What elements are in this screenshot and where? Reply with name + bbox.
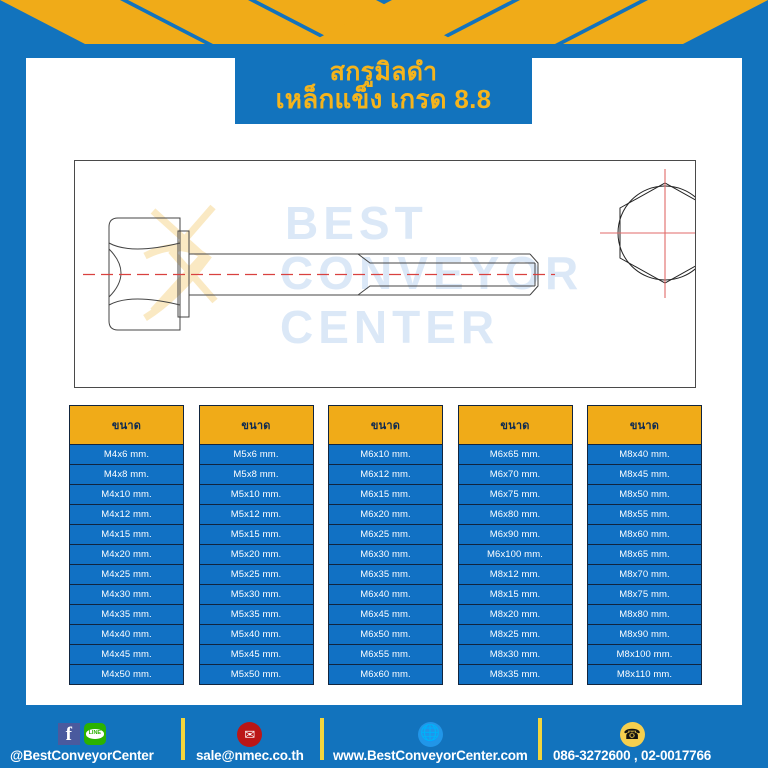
table-row[interactable]: M4x6 mm. [69, 445, 184, 465]
line-icon[interactable]: LINE [84, 723, 106, 745]
envelope-icon[interactable]: ✉ [237, 722, 262, 747]
page-title-banner: สกรูมิลดำ เหล็กแข็ง เกรด 8.8 [235, 49, 532, 124]
table-row[interactable]: M4x20 mm. [69, 545, 184, 565]
table-row[interactable]: M6x80 mm. [458, 505, 573, 525]
table-row[interactable]: M5x25 mm. [199, 565, 314, 585]
table-header-3: ขนาด [328, 405, 443, 445]
size-table-column-1: ขนาด M4x6 mm. M4x8 mm. M4x10 mm. M4x12 m… [69, 405, 184, 693]
footer-social-text[interactable]: @BestConveyorCenter [10, 748, 154, 763]
footer-phone-text[interactable]: 086-3272600 , 02-0017766 [553, 748, 711, 763]
footer-divider-2 [320, 718, 324, 760]
table-row[interactable]: M5x15 mm. [199, 525, 314, 545]
table-header-4: ขนาด [458, 405, 573, 445]
footer-phone-group[interactable]: ☎ 086-3272600 , 02-0017766 [553, 722, 711, 763]
footer-email-text[interactable]: sale@nmec.co.th [196, 748, 304, 763]
table-row[interactable]: M6x55 mm. [328, 645, 443, 665]
table-header-2: ขนาด [199, 405, 314, 445]
footer-email-group[interactable]: ✉ sale@nmec.co.th [196, 722, 304, 763]
table-row[interactable]: M5x6 mm. [199, 445, 314, 465]
table-row[interactable]: M4x35 mm. [69, 605, 184, 625]
table-row[interactable]: M6x12 mm. [328, 465, 443, 485]
table-row[interactable]: M4x25 mm. [69, 565, 184, 585]
table-row[interactable]: M8x35 mm. [458, 665, 573, 685]
table-row[interactable]: M6x50 mm. [328, 625, 443, 645]
table-row[interactable]: M4x40 mm. [69, 625, 184, 645]
footer-website-text[interactable]: www.BestConveyorCenter.com [333, 748, 528, 763]
table-row[interactable]: M5x30 mm. [199, 585, 314, 605]
table-row[interactable]: M8x15 mm. [458, 585, 573, 605]
footer-divider-1 [181, 718, 185, 760]
page-title-line-2: เหล็กแข็ง เกรด 8.8 [276, 86, 492, 114]
table-row[interactable]: M5x10 mm. [199, 485, 314, 505]
table-row[interactable]: M6x15 mm. [328, 485, 443, 505]
table-row[interactable]: M6x70 mm. [458, 465, 573, 485]
table-row[interactable]: M8x30 mm. [458, 645, 573, 665]
content-card: สกรูมิลดำ เหล็กแข็ง เกรด 8.8 BEST CONVEY… [26, 32, 742, 705]
table-row[interactable]: M8x60 mm. [587, 525, 702, 545]
table-row[interactable]: M4x12 mm. [69, 505, 184, 525]
table-row[interactable]: M6x65 mm. [458, 445, 573, 465]
table-row[interactable]: M6x20 mm. [328, 505, 443, 525]
facebook-icon[interactable]: f [58, 723, 80, 745]
table-row[interactable]: M6x40 mm. [328, 585, 443, 605]
table-row[interactable]: M6x90 mm. [458, 525, 573, 545]
table-row[interactable]: M8x90 mm. [587, 625, 702, 645]
table-row[interactable]: M6x100 mm. [458, 545, 573, 565]
size-table-column-5: ขนาด M8x40 mm. M8x45 mm. M8x50 mm. M8x55… [587, 405, 702, 693]
size-tables: ขนาด M4x6 mm. M4x8 mm. M4x10 mm. M4x12 m… [69, 405, 702, 693]
table-row[interactable]: M4x50 mm. [69, 665, 184, 685]
table-row[interactable]: M8x25 mm. [458, 625, 573, 645]
footer-divider-3 [538, 718, 542, 760]
footer-website-group[interactable]: 🌐 www.BestConveyorCenter.com [333, 722, 528, 763]
page-title-line-1: สกรูมิลดำ [330, 59, 438, 86]
table-row[interactable]: M8x75 mm. [587, 585, 702, 605]
table-row[interactable]: M6x10 mm. [328, 445, 443, 465]
table-row[interactable]: M8x12 mm. [458, 565, 573, 585]
table-header-5: ขนาด [587, 405, 702, 445]
table-row[interactable]: M6x45 mm. [328, 605, 443, 625]
table-row[interactable]: M8x40 mm. [587, 445, 702, 465]
table-row[interactable]: M4x10 mm. [69, 485, 184, 505]
table-row[interactable]: M4x45 mm. [69, 645, 184, 665]
table-row[interactable]: M6x25 mm. [328, 525, 443, 545]
table-row[interactable]: M5x8 mm. [199, 465, 314, 485]
table-row[interactable]: M8x70 mm. [587, 565, 702, 585]
table-row[interactable]: M5x20 mm. [199, 545, 314, 565]
table-row[interactable]: M6x35 mm. [328, 565, 443, 585]
table-header-1: ขนาด [69, 405, 184, 445]
line-icon-label: LINE [86, 729, 105, 739]
table-row[interactable]: M6x30 mm. [328, 545, 443, 565]
phone-icon[interactable]: ☎ [620, 722, 645, 747]
table-row[interactable]: M8x110 mm. [587, 665, 702, 685]
svg-text:CENTER: CENTER [280, 301, 499, 353]
table-row[interactable]: M5x40 mm. [199, 625, 314, 645]
size-table-column-4: ขนาด M6x65 mm. M6x70 mm. M6x75 mm. M6x80… [458, 405, 573, 693]
table-row[interactable]: M6x60 mm. [328, 665, 443, 685]
table-row[interactable]: M5x50 mm. [199, 665, 314, 685]
top-stripe-decoration [0, 0, 768, 58]
table-row[interactable]: M5x12 mm. [199, 505, 314, 525]
size-table-column-2: ขนาด M5x6 mm. M5x8 mm. M5x10 mm. M5x12 m… [199, 405, 314, 693]
table-row[interactable]: M8x45 mm. [587, 465, 702, 485]
footer-social-group[interactable]: f LINE @BestConveyorCenter [10, 722, 154, 763]
table-row[interactable]: M4x30 mm. [69, 585, 184, 605]
table-row[interactable]: M4x8 mm. [69, 465, 184, 485]
table-row[interactable]: M8x50 mm. [587, 485, 702, 505]
table-row[interactable]: M6x75 mm. [458, 485, 573, 505]
table-row[interactable]: M8x20 mm. [458, 605, 573, 625]
table-row[interactable]: M4x15 mm. [69, 525, 184, 545]
size-table-column-3: ขนาด M6x10 mm. M6x12 mm. M6x15 mm. M6x20… [328, 405, 443, 693]
svg-text:BEST: BEST [285, 197, 428, 249]
bolt-technical-drawing: BEST CONVEYOR CENTER [74, 160, 696, 388]
table-row[interactable]: M8x65 mm. [587, 545, 702, 565]
table-row[interactable]: M5x35 mm. [199, 605, 314, 625]
table-row[interactable]: M5x45 mm. [199, 645, 314, 665]
table-row[interactable]: M8x55 mm. [587, 505, 702, 525]
table-row[interactable]: M8x100 mm. [587, 645, 702, 665]
footer-contact-bar: f LINE @BestConveyorCenter ✉ sale@nmec.c… [0, 705, 768, 768]
table-row[interactable]: M8x80 mm. [587, 605, 702, 625]
globe-icon[interactable]: 🌐 [418, 722, 443, 747]
